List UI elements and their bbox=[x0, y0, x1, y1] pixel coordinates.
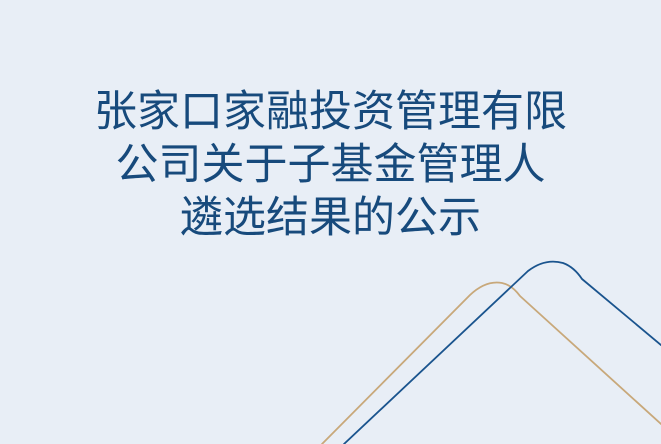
page-title: 张家口家融投资管理有限 公司关于子基金管理人 遴选结果的公示 bbox=[0, 86, 661, 245]
title-line-2: 公司关于子基金管理人 bbox=[0, 139, 661, 192]
blue-peak-line bbox=[344, 262, 661, 444]
title-line-1: 张家口家融投资管理有限 bbox=[0, 86, 661, 139]
title-line-3: 遴选结果的公示 bbox=[0, 192, 661, 245]
tan-peak-line bbox=[322, 283, 661, 444]
poster-canvas: 张家口家融投资管理有限 公司关于子基金管理人 遴选结果的公示 bbox=[0, 0, 661, 444]
